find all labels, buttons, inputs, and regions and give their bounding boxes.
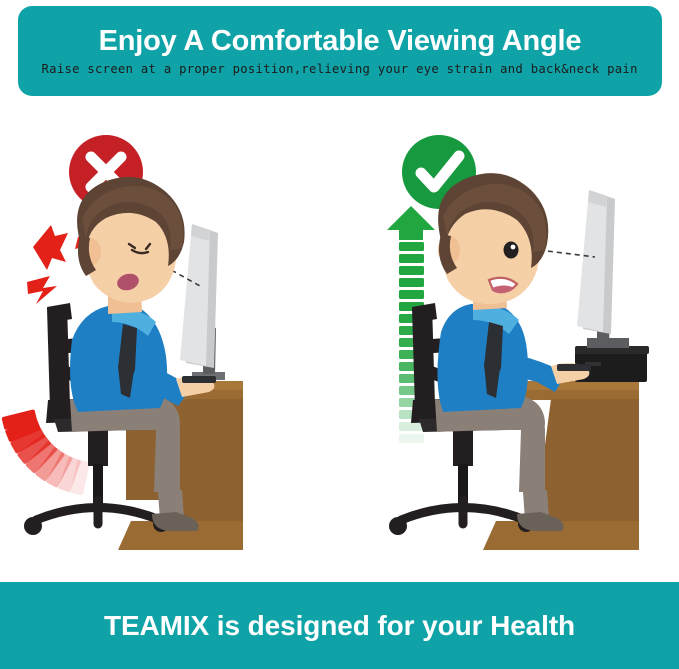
keyboard <box>182 376 216 383</box>
monitor <box>577 190 629 348</box>
monitor <box>180 224 225 380</box>
page-subtitle: Raise screen at a proper position,reliev… <box>42 61 638 76</box>
header-banner: Enjoy A Comfortable Viewing Angle Raise … <box>18 6 662 96</box>
scene-good-posture <box>339 100 679 582</box>
illustration-stage <box>0 100 679 582</box>
infographic-page: Enjoy A Comfortable Viewing Angle Raise … <box>0 0 679 669</box>
footer-banner: TEAMIX is designed for your Health <box>0 582 679 669</box>
keyboard <box>557 364 591 371</box>
scene-bad-posture <box>0 100 340 582</box>
footer-tagline: TEAMIX is designed for your Health <box>104 610 575 642</box>
page-title: Enjoy A Comfortable Viewing Angle <box>99 26 582 56</box>
